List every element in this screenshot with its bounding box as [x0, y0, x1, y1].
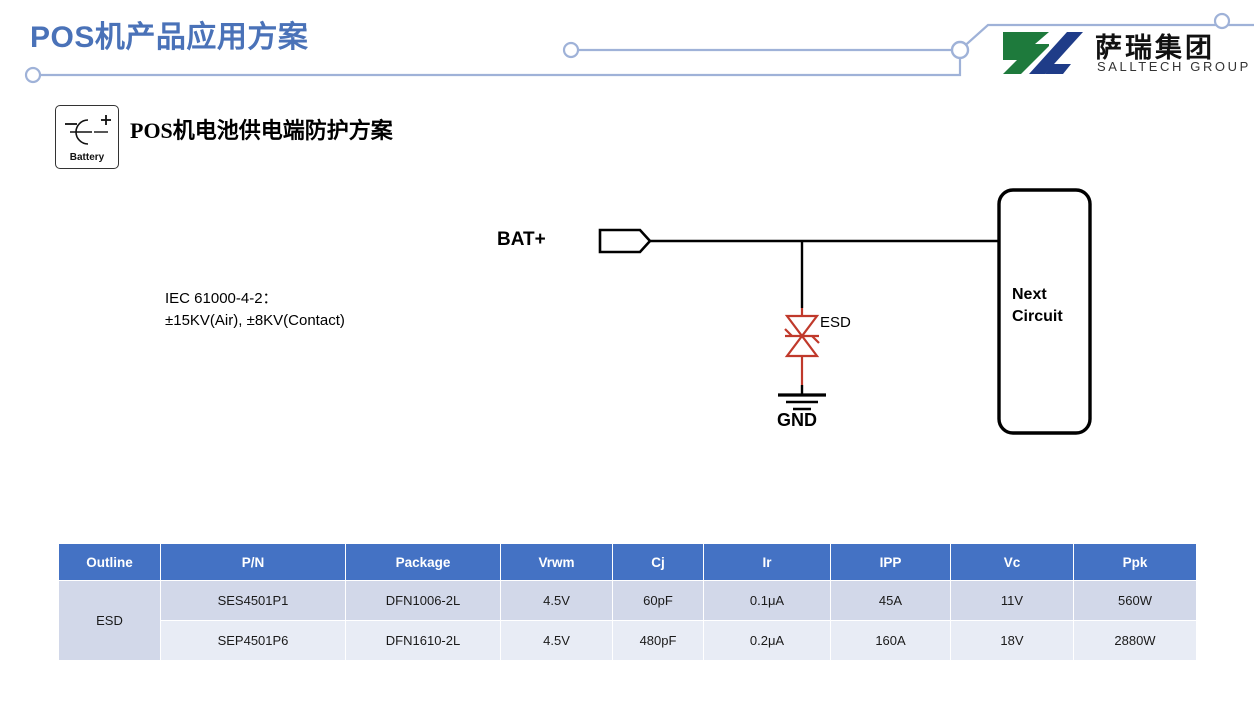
battery-symbol-icon [56, 108, 118, 150]
ground-symbol-icon [778, 385, 826, 409]
cell-cj: 480pF [613, 621, 704, 661]
col-header-package: Package [346, 544, 501, 581]
battery-icon: Battery [55, 105, 119, 169]
parts-table: Outline P/N Package Vrwm Cj Ir IPP Vc Pp… [58, 543, 1197, 661]
cell-vc: 11V [951, 581, 1074, 621]
slide-root: POS机产品应用方案 萨瑞集团 SALLTECH GROUP Battery P… [0, 0, 1254, 705]
col-header-cj: Cj [613, 544, 704, 581]
section-heading: POS机电池供电端防护方案 [130, 113, 393, 145]
gnd-label: GND [777, 410, 817, 431]
esd-tvs-diode-icon [785, 308, 819, 385]
cell-ir: 0.1μA [704, 581, 831, 621]
cell-package: DFN1610-2L [346, 621, 501, 661]
deco-node-left [26, 68, 40, 82]
bat-pin-connector-icon [600, 230, 650, 252]
iec-standard-line: IEC 61000-4-2： [165, 288, 345, 310]
cell-ipp: 45A [831, 581, 951, 621]
cell-outline-group: ESD [59, 581, 161, 661]
table-row: SEP4501P6 DFN1610-2L 4.5V 480pF 0.2μA 16… [59, 621, 1197, 661]
col-header-vc: Vc [951, 544, 1074, 581]
esd-label: ESD [820, 314, 851, 331]
bat-plus-label: BAT+ [497, 229, 546, 251]
iec-spec-note: IEC 61000-4-2： ±15KV(Air), ±8KV(Contact) [165, 288, 345, 332]
next-circuit-label: Next Circuit [1012, 284, 1063, 327]
cell-pn: SEP4501P6 [161, 621, 346, 661]
deco-node-right [1215, 14, 1229, 28]
table-row: ESD SES4501P1 DFN1006-2L 4.5V 60pF 0.1μA… [59, 581, 1197, 621]
iec-levels-line: ±15KV(Air), ±8KV(Contact) [165, 310, 345, 332]
col-header-vrwm: Vrwm [501, 544, 613, 581]
page-title: POS机产品应用方案 [30, 12, 308, 56]
col-header-pn: P/N [161, 544, 346, 581]
cell-ir: 0.2μA [704, 621, 831, 661]
cell-ppk: 2880W [1074, 621, 1197, 661]
cell-ipp: 160A [831, 621, 951, 661]
cell-vrwm: 4.5V [501, 581, 613, 621]
brand-logo: 萨瑞集团 SALLTECH GROUP [995, 28, 1225, 80]
cell-vc: 18V [951, 621, 1074, 661]
table-header-row: Outline P/N Package Vrwm Cj Ir IPP Vc Pp… [59, 544, 1197, 581]
cell-pn: SES4501P1 [161, 581, 346, 621]
deco-node-junction [952, 42, 968, 58]
deco-node-mid [564, 43, 578, 57]
logo-english-name: SALLTECH GROUP [1097, 59, 1251, 74]
cell-ppk: 560W [1074, 581, 1197, 621]
next-circuit-label-line2: Circuit [1012, 306, 1063, 328]
salltech-sz-logo-icon [995, 30, 1085, 76]
battery-icon-label: Battery [56, 152, 118, 163]
cell-cj: 60pF [613, 581, 704, 621]
cell-vrwm: 4.5V [501, 621, 613, 661]
next-circuit-label-line1: Next [1012, 284, 1063, 306]
col-header-ir: Ir [704, 544, 831, 581]
col-header-outline: Outline [59, 544, 161, 581]
col-header-ipp: IPP [831, 544, 951, 581]
cell-package: DFN1006-2L [346, 581, 501, 621]
col-header-ppk: Ppk [1074, 544, 1197, 581]
